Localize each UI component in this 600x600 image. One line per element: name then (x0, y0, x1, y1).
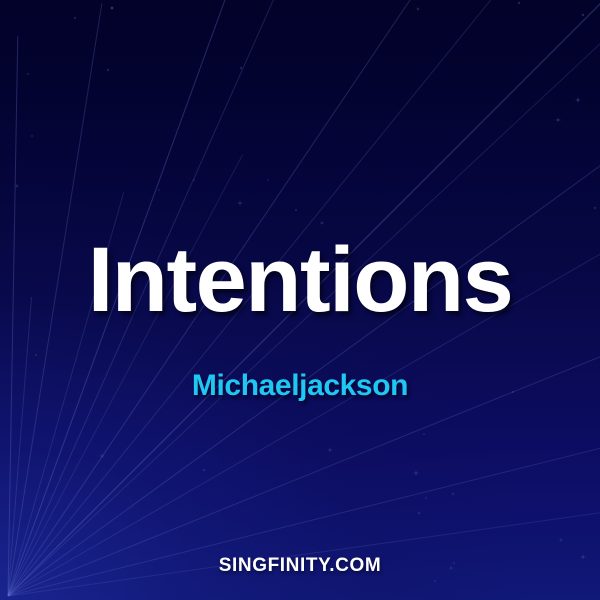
song-title: Intentions (0, 234, 600, 326)
star-dot-icon (425, 497, 427, 499)
light-rays-layer (0, 0, 600, 600)
star-dot-icon (27, 73, 29, 75)
star-dot-icon (295, 209, 297, 211)
star-dot-icon (423, 433, 425, 435)
sparkle-star-icon (554, 116, 563, 125)
star-dot-icon (31, 135, 33, 137)
light-ray (8, 3, 102, 596)
artist-name: Michaeljackson (0, 371, 600, 401)
star-dot-icon (453, 562, 455, 564)
star-dot-icon (107, 69, 109, 71)
cover-text-block: Intentions Michaeljackson SINGFINITY.COM (0, 0, 600, 600)
sparkle-star-icon (414, 5, 421, 12)
sparkle-star-icon (415, 509, 423, 517)
light-ray (8, 126, 600, 596)
star-dot-icon (240, 67, 242, 69)
star-dot-icon (321, 222, 324, 225)
light-ray (8, 2, 600, 596)
star-dot-icon (594, 207, 596, 209)
sparkle-star-icon (578, 552, 588, 562)
light-ray (8, 0, 433, 596)
star-dot-icon (111, 7, 114, 10)
star-dot-icon (74, 17, 76, 19)
light-ray (8, 37, 600, 596)
light-ray (8, 36, 18, 596)
light-ray (8, 319, 600, 596)
sparkle-star-icon (98, 452, 107, 461)
light-ray (8, 297, 32, 596)
sparkle-star-icon (449, 490, 456, 497)
light-ray (8, 192, 124, 596)
star-dot-icon (267, 179, 269, 181)
sparkle-star-icon (573, 95, 583, 105)
light-ray (8, 0, 293, 596)
star-dot-icon (35, 354, 37, 356)
light-ray (8, 155, 243, 596)
album-cover-art: Intentions Michaeljackson SINGFINITY.COM (0, 0, 600, 600)
light-ray (8, 0, 511, 596)
star-dot-icon (512, 391, 514, 393)
star-dot-icon (560, 539, 563, 542)
sparkle-star-icon (13, 182, 21, 190)
sparkle-star-icon (411, 468, 421, 478)
light-ray (8, 504, 600, 596)
light-ray (8, 427, 600, 596)
sparkle-star-icon (326, 446, 335, 455)
star-dot-icon (158, 189, 160, 191)
sparkle-star-icon (447, 564, 455, 572)
site-watermark: SINGFINITY.COM (0, 556, 600, 575)
star-dot-icon (582, 14, 584, 16)
light-ray (8, 0, 227, 596)
sparkle-star-icon (236, 199, 245, 208)
star-dot-icon (434, 580, 436, 582)
star-dot-icon (518, 2, 520, 4)
star-dot-icon (193, 179, 195, 181)
star-dot-icon (203, 469, 205, 471)
light-ray (8, 216, 600, 596)
starfield-layer (0, 0, 600, 600)
